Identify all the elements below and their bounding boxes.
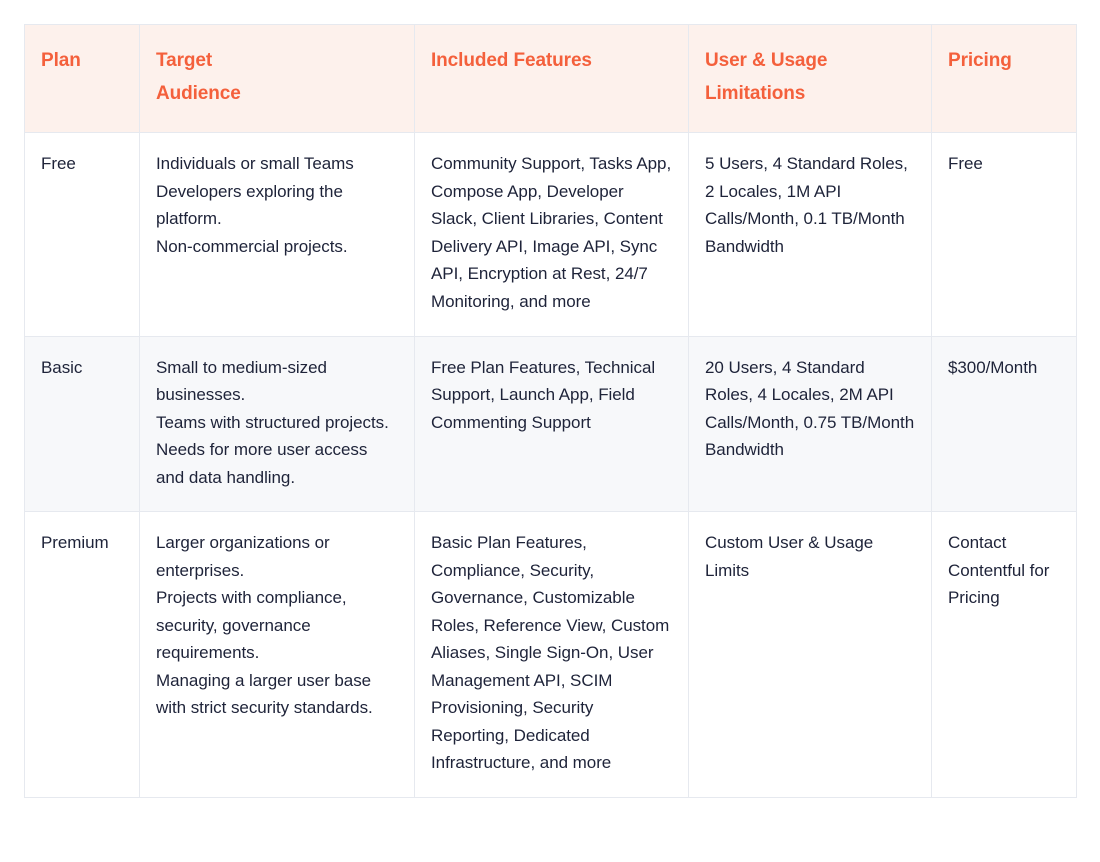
cell-included-features: Community Support, Tasks App, Compose Ap… [415,133,689,336]
column-header-plan: Plan [25,25,140,133]
cell-pricing: Free [932,133,1077,336]
table-header: Plan Target Audience Included Features U… [25,25,1077,133]
cell-user-usage-limitations: Custom User & Usage Limits [689,512,932,798]
cell-plan: Free [25,133,140,336]
table-body: Free Individuals or small Teams Develope… [25,133,1077,798]
table-header-row: Plan Target Audience Included Features U… [25,25,1077,133]
table-row: Free Individuals or small Teams Develope… [25,133,1077,336]
cell-target-audience: Small to medium-sized businesses. Teams … [140,336,415,512]
cell-included-features: Basic Plan Features, Compliance, Securit… [415,512,689,798]
cell-plan: Premium [25,512,140,798]
plan-comparison-table: Plan Target Audience Included Features U… [24,24,1077,798]
column-header-features: Included Features [415,25,689,133]
cell-included-features: Free Plan Features, Technical Support, L… [415,336,689,512]
cell-user-usage-limitations: 20 Users, 4 Standard Roles, 4 Locales, 2… [689,336,932,512]
cell-pricing: Contact Contentful for Pricing [932,512,1077,798]
column-header-pricing: Pricing [932,25,1077,133]
column-header-audience: Target Audience [140,25,415,133]
column-header-limits: User & Usage Limitations [689,25,932,133]
table-row: Premium Larger organizations or enterpri… [25,512,1077,798]
cell-target-audience: Larger organizations or enterprises. Pro… [140,512,415,798]
table-row: Basic Small to medium-sized businesses. … [25,336,1077,512]
cell-user-usage-limitations: 5 Users, 4 Standard Roles, 2 Locales, 1M… [689,133,932,336]
cell-plan: Basic [25,336,140,512]
cell-pricing: $300/Month [932,336,1077,512]
page-container: Plan Target Audience Included Features U… [0,0,1100,862]
cell-target-audience: Individuals or small Teams Developers ex… [140,133,415,336]
